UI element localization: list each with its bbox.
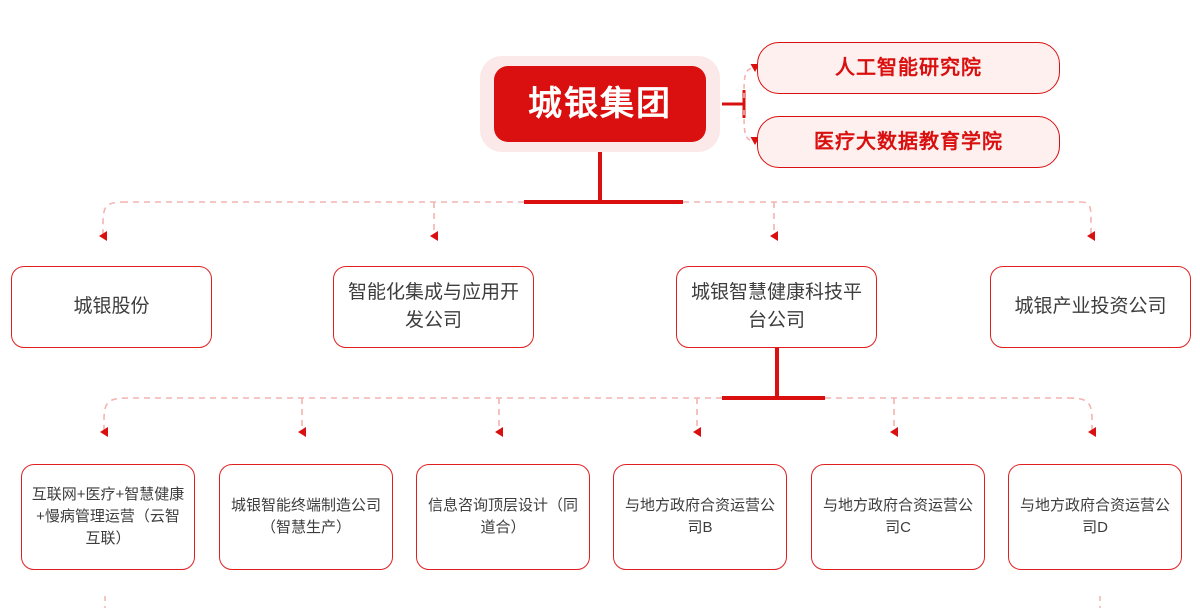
level2-node-label: 城银股份: [65, 293, 157, 321]
connector-level4-stubs: [105, 596, 1100, 608]
level2-node-label: 城银智慧健康科技平台公司: [677, 279, 876, 334]
institute-node-label: 医疗大数据教育学院: [814, 130, 1003, 154]
org-chart-canvas: 城银集团 人工智能研究院 医疗大数据教育学院 城银股份 智能化集成与应用开发公司…: [0, 0, 1200, 608]
level3-node-joint-venture-d[interactable]: 与地方政府合资运营公司D: [1008, 464, 1182, 570]
level2-node-industrial-investment[interactable]: 城银产业投资公司: [990, 266, 1191, 348]
level2-node-intelligent-integration[interactable]: 智能化集成与应用开发公司: [333, 266, 534, 348]
root-node-label: 城银集团: [528, 87, 672, 121]
level3-node-smart-terminal-manufacturing[interactable]: 城银智能终端制造公司（智慧生产）: [219, 464, 393, 570]
level3-node-label: 城银智能终端制造公司（智慧生产）: [220, 495, 392, 539]
level2-node-label: 城银产业投资公司: [1006, 293, 1174, 321]
level2-node-smart-health-platform[interactable]: 城银智慧健康科技平台公司: [676, 266, 877, 348]
level3-node-info-consulting-design[interactable]: 信息咨询顶层设计（同道合）: [416, 464, 590, 570]
level3-node-label: 信息咨询顶层设计（同道合）: [417, 495, 589, 539]
connector-root-to-institutes: [722, 68, 755, 141]
root-node-chengyin-group[interactable]: 城银集团: [494, 66, 706, 142]
institute-node-medical-bigdata-college[interactable]: 医疗大数据教育学院: [757, 116, 1060, 168]
connector-level2-to-level3: [104, 348, 1092, 432]
level3-node-label: 互联网+医疗+智慧健康+慢病管理运营（云智互联）: [22, 484, 194, 549]
institute-node-label: 人工智能研究院: [835, 56, 982, 80]
level3-node-joint-venture-c[interactable]: 与地方政府合资运营公司C: [811, 464, 985, 570]
level2-node-label: 智能化集成与应用开发公司: [334, 279, 533, 334]
institute-node-ai-research[interactable]: 人工智能研究院: [757, 42, 1060, 94]
level3-node-label: 与地方政府合资运营公司C: [812, 495, 984, 539]
level3-node-label: 与地方政府合资运营公司B: [614, 495, 786, 539]
level2-node-chengyin-shares[interactable]: 城银股份: [11, 266, 212, 348]
level3-node-internet-medical-health[interactable]: 互联网+医疗+智慧健康+慢病管理运营（云智互联）: [21, 464, 195, 570]
level3-node-label: 与地方政府合资运营公司D: [1009, 495, 1181, 539]
level3-node-joint-venture-b[interactable]: 与地方政府合资运营公司B: [613, 464, 787, 570]
